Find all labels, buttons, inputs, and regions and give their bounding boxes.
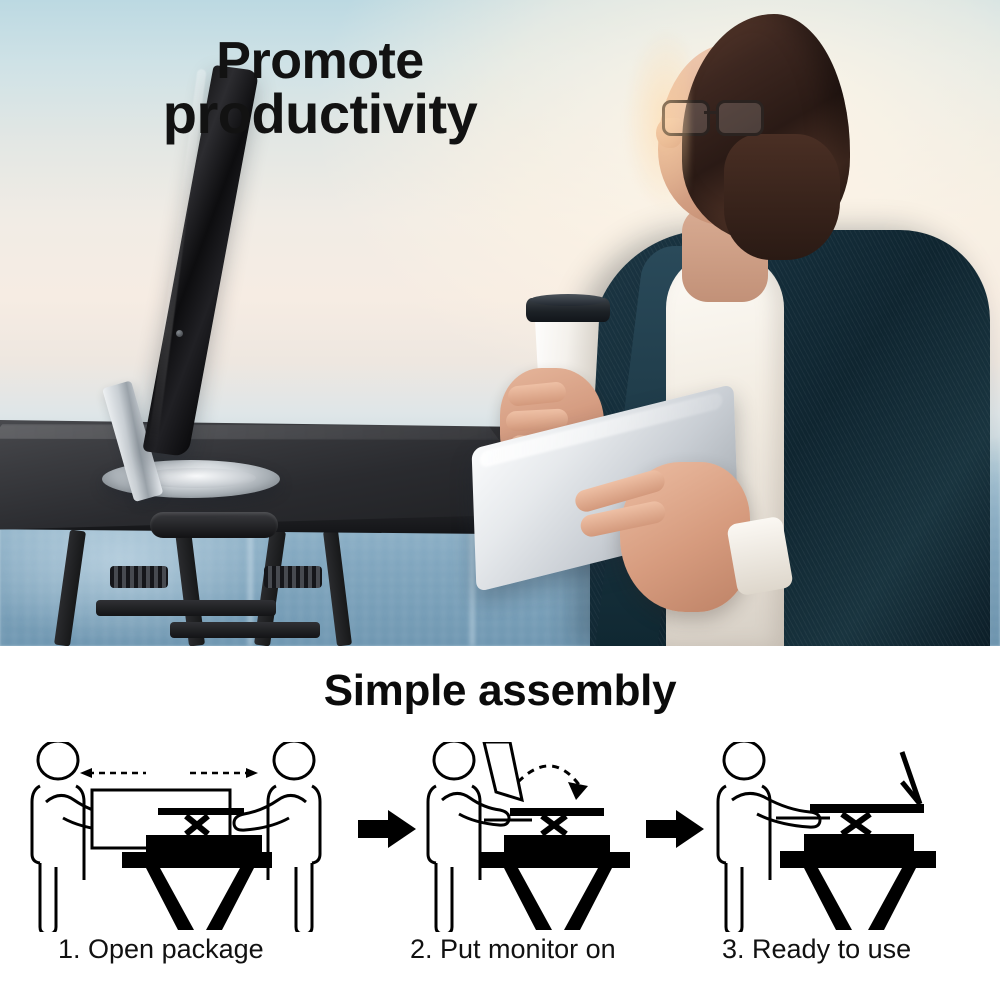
step-separator-arrow-1 <box>352 804 422 854</box>
person-at-standing-desk-icon <box>706 742 976 932</box>
assembly-step-3 <box>706 742 976 932</box>
gas-spring <box>110 566 168 588</box>
assembly-steps <box>0 742 1000 932</box>
step-3-caption: 3. Ready to use <box>722 934 911 965</box>
assembly-title: Simple assembly <box>0 666 1000 716</box>
step-1-caption: 1. Open package <box>58 934 264 965</box>
hero-headline: Promote productivity <box>0 36 640 142</box>
finger <box>507 381 567 407</box>
riser-crossbar <box>170 622 320 638</box>
step-2-caption: 2. Put monitor on <box>410 934 616 965</box>
assembly-panel: Simple assembly <box>0 646 1000 1000</box>
riser-crossbar <box>96 600 276 616</box>
right-arrow-icon <box>640 804 710 854</box>
hero-photo: Promote productivity <box>0 0 1000 646</box>
assembly-step-2 <box>418 742 648 932</box>
riser-handle <box>150 512 278 538</box>
hair-back <box>724 134 840 260</box>
assembly-step-1 <box>18 742 348 932</box>
right-arrow-icon <box>352 804 422 854</box>
step-captions: 1. Open package 2. Put monitor on 3. Rea… <box>0 934 1000 984</box>
monitor-power-indicator <box>176 330 183 337</box>
glasses-lens <box>716 100 764 136</box>
step-separator-arrow-2 <box>640 804 710 854</box>
cup-lid-top <box>530 294 606 306</box>
two-people-lifting-box-icon <box>18 742 348 932</box>
person-placing-monitor-icon <box>418 742 648 932</box>
headline-line-2: productivity <box>0 87 640 142</box>
gas-spring <box>264 566 322 588</box>
glasses-bridge <box>704 111 718 114</box>
product-marketing-image: Promote productivity Simple assembly <box>0 0 1000 1000</box>
